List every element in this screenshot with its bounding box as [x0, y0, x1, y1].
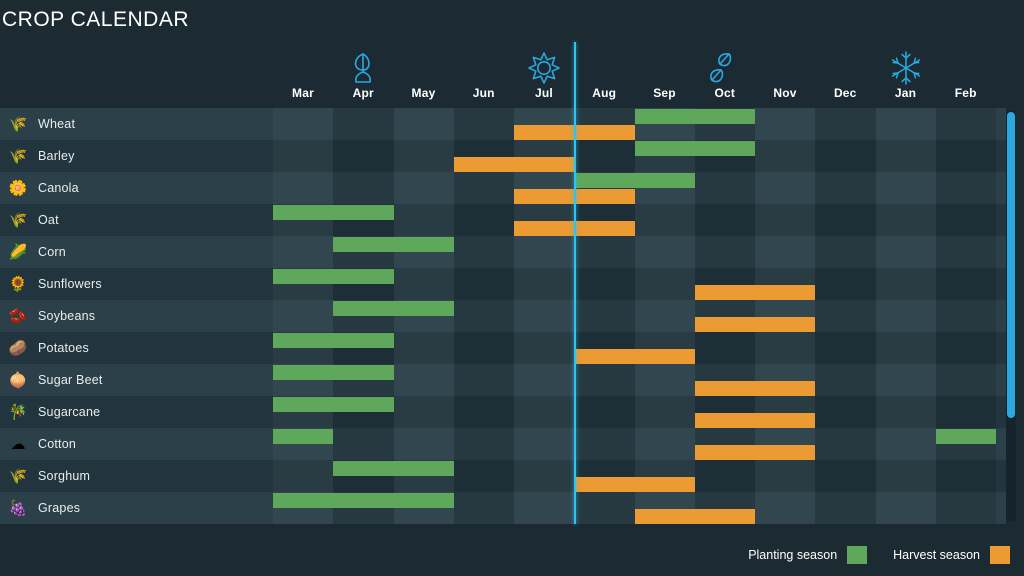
crop-calendar-screen: CROP CALENDAR MarAprMayJunJulAugSepOctNo…	[0, 0, 1024, 576]
month-column-tint	[454, 300, 514, 332]
crop-row[interactable]: 🌽Corn	[0, 236, 1006, 268]
month-column-tint	[514, 268, 574, 300]
month-column-tint	[574, 364, 634, 396]
legend: Planting season Harvest season	[0, 542, 1024, 568]
month-column-tint	[454, 396, 514, 428]
month-column-tint	[936, 204, 996, 236]
month-column-tint	[454, 492, 514, 524]
month-label-mar: Mar	[273, 86, 333, 104]
month-column-tint	[815, 428, 875, 460]
month-label-jan: Jan	[876, 86, 936, 104]
cotton-icon: ☁	[8, 434, 28, 454]
month-column-tint	[574, 428, 634, 460]
month-column-tint	[574, 396, 634, 428]
month-column-tint	[635, 300, 695, 332]
planting-season-bar	[333, 237, 454, 252]
month-column-tint	[936, 172, 996, 204]
month-column-tint	[394, 140, 454, 172]
crop-cell-sunflowers[interactable]: 🌻Sunflowers	[0, 268, 273, 300]
harvest-season-bar	[695, 445, 816, 460]
month-column-tint	[695, 332, 755, 364]
month-column-tint	[936, 108, 996, 140]
month-column-tint	[394, 108, 454, 140]
sugarcane-icon: 🎋	[8, 402, 28, 422]
month-column-tint	[876, 332, 936, 364]
legend-planting-label: Planting season	[748, 548, 837, 562]
month-column-tint	[273, 300, 333, 332]
current-date-marker	[574, 42, 576, 524]
crop-row[interactable]: 🥔Potatoes	[0, 332, 1006, 364]
month-column-tint	[876, 396, 936, 428]
planting-season-bar	[273, 429, 333, 444]
month-column-tint	[454, 172, 514, 204]
month-column-tint	[635, 268, 695, 300]
crop-row[interactable]: 🌾Sorghum	[0, 460, 1006, 492]
month-column-tint	[815, 140, 875, 172]
month-column-tint	[454, 460, 514, 492]
month-column-tint	[876, 108, 936, 140]
crop-cell-canola[interactable]: 🌼Canola	[0, 172, 273, 204]
planting-season-bar	[273, 269, 394, 284]
month-column-tint	[876, 300, 936, 332]
crop-name-label: Soybeans	[38, 309, 95, 323]
month-column-tint	[755, 236, 815, 268]
month-column-tint	[333, 108, 393, 140]
harvest-season-bar	[635, 509, 756, 524]
month-column-tint	[876, 268, 936, 300]
month-column-tint	[454, 364, 514, 396]
crop-name-label: Barley	[38, 149, 75, 163]
wheat-icon: 🌾	[8, 114, 28, 134]
month-column-tint	[454, 236, 514, 268]
month-column-tint	[514, 332, 574, 364]
month-column-tint	[876, 204, 936, 236]
month-column-tint	[815, 492, 875, 524]
soybean-icon: 🫘	[8, 306, 28, 326]
month-column-tint	[454, 268, 514, 300]
barley-icon: 🌾	[8, 146, 28, 166]
month-column-tint	[273, 140, 333, 172]
month-column-tint	[635, 428, 695, 460]
crop-name-label: Sugarcane	[38, 405, 100, 419]
month-column-tint	[394, 364, 454, 396]
planting-season-bar	[273, 333, 394, 348]
month-column-tint	[815, 364, 875, 396]
month-column-tint	[936, 460, 996, 492]
oat-icon: 🌾	[8, 210, 28, 230]
planting-season-bar	[273, 365, 394, 380]
month-column-tint	[936, 300, 996, 332]
month-column-tint	[514, 300, 574, 332]
month-column-tint	[936, 332, 996, 364]
month-column-tint	[755, 172, 815, 204]
month-label-jun: Jun	[454, 86, 514, 104]
month-column-tint	[936, 364, 996, 396]
crop-name-label: Grapes	[38, 501, 80, 515]
month-column-tint	[514, 460, 574, 492]
month-column-tint	[454, 108, 514, 140]
month-column-tint	[755, 108, 815, 140]
crop-cell-cotton[interactable]: ☁Cotton	[0, 428, 273, 460]
month-column-tint	[755, 460, 815, 492]
crop-cell-barley[interactable]: 🌾Barley	[0, 140, 273, 172]
month-column-tint	[394, 428, 454, 460]
crop-name-label: Wheat	[38, 117, 75, 131]
planting-season-bar	[273, 397, 394, 412]
month-column-tint	[273, 172, 333, 204]
month-column-tint	[394, 396, 454, 428]
harvest-season-bar	[695, 381, 816, 396]
crop-row[interactable]: 🧅Sugar Beet	[0, 364, 1006, 396]
planting-season-bar	[635, 141, 756, 156]
month-column-tint	[454, 332, 514, 364]
spring-sprout-icon	[343, 48, 383, 88]
month-column-tint	[695, 236, 755, 268]
month-column-tint	[936, 396, 996, 428]
vertical-scrollbar-track[interactable]	[1006, 110, 1016, 522]
month-column-tint	[815, 332, 875, 364]
month-column-tint	[815, 268, 875, 300]
month-column-tint	[394, 204, 454, 236]
sorghum-icon: 🌾	[8, 466, 28, 486]
month-column-tint	[514, 396, 574, 428]
month-column-tint	[755, 492, 815, 524]
crop-name-label: Sunflowers	[38, 277, 102, 291]
autumn-falling-leaves-icon	[705, 48, 745, 88]
legend-item-planting: Planting season	[748, 546, 867, 564]
month-column-tint	[635, 204, 695, 236]
crop-row[interactable]: 🎋Sugarcane	[0, 396, 1006, 428]
planting-season-bar	[273, 493, 454, 508]
month-column-tint	[876, 428, 936, 460]
crop-cell-corn[interactable]: 🌽Corn	[0, 236, 273, 268]
month-label-sep: Sep	[635, 86, 695, 104]
month-column-tint	[815, 172, 875, 204]
month-column-tint	[574, 300, 634, 332]
month-column-tint	[876, 140, 936, 172]
month-column-tint	[876, 364, 936, 396]
corn-icon: 🌽	[8, 242, 28, 262]
month-column-tint	[876, 460, 936, 492]
crop-row[interactable]: 🌾Barley	[0, 140, 1006, 172]
canola-icon: 🌼	[8, 178, 28, 198]
calendar-panel: MarAprMayJunJulAugSepOctNovDecJanFeb 🌾Wh…	[0, 42, 1006, 528]
month-column-tint	[815, 236, 875, 268]
harvest-season-bar	[695, 317, 816, 332]
month-column-tint	[273, 460, 333, 492]
planting-season-bar	[635, 109, 756, 124]
month-column-tint	[815, 300, 875, 332]
month-column-tint	[815, 396, 875, 428]
sugar-beet-icon: 🧅	[8, 370, 28, 390]
crop-cell-wheat[interactable]: 🌾Wheat	[0, 108, 273, 140]
page-title: CROP CALENDAR	[0, 8, 189, 32]
month-column-tint	[333, 140, 393, 172]
calendar-header: MarAprMayJunJulAugSepOctNovDecJanFeb	[0, 42, 1006, 108]
month-column-tint	[394, 268, 454, 300]
crop-row[interactable]: 🌾Wheat	[0, 108, 1006, 140]
crop-cell-sorghum[interactable]: 🌾Sorghum	[0, 460, 273, 492]
month-column-tint	[454, 204, 514, 236]
month-column-tint	[815, 108, 875, 140]
legend-item-harvest: Harvest season	[893, 546, 1010, 564]
crop-row[interactable]: 🫘Soybeans	[0, 300, 1006, 332]
month-column-tint	[635, 396, 695, 428]
month-label-nov: Nov	[755, 86, 815, 104]
month-column-tint	[755, 332, 815, 364]
month-label-feb: Feb	[936, 86, 996, 104]
harvest-season-bar	[695, 285, 816, 300]
month-column-tint	[394, 332, 454, 364]
crop-row[interactable]: 🌼Canola	[0, 172, 1006, 204]
potato-icon: 🥔	[8, 338, 28, 358]
month-label-may: May	[394, 86, 454, 104]
month-label-apr: Apr	[333, 86, 393, 104]
crop-name-label: Sugar Beet	[38, 373, 103, 387]
month-column-tint	[333, 428, 393, 460]
month-column-tint	[755, 204, 815, 236]
planting-season-bar	[333, 461, 454, 476]
legend-harvest-swatch	[990, 546, 1010, 564]
month-column-tint	[876, 236, 936, 268]
month-label-jul: Jul	[514, 86, 574, 104]
month-column-tint	[273, 236, 333, 268]
month-column-tint	[574, 268, 634, 300]
planting-season-bar	[273, 205, 394, 220]
month-column-tint	[514, 236, 574, 268]
crop-row[interactable]: ☁Cotton	[0, 428, 1006, 460]
month-column-tint	[936, 140, 996, 172]
month-column-tint	[635, 364, 695, 396]
month-column-tint	[514, 428, 574, 460]
vertical-scrollbar-thumb[interactable]	[1007, 112, 1015, 418]
crop-cell-soybeans[interactable]: 🫘Soybeans	[0, 300, 273, 332]
month-column-tint	[574, 236, 634, 268]
month-column-tint	[273, 108, 333, 140]
month-column-tint	[936, 492, 996, 524]
crop-cell-oat[interactable]: 🌾Oat	[0, 204, 273, 236]
legend-planting-swatch	[847, 546, 867, 564]
crop-name-label: Canola	[38, 181, 79, 195]
month-column-tint	[695, 204, 755, 236]
crop-row[interactable]: 🌾Oat	[0, 204, 1006, 236]
sunflower-icon: 🌻	[8, 274, 28, 294]
month-column-tint	[695, 460, 755, 492]
month-column-tint	[815, 460, 875, 492]
planting-season-bar	[936, 429, 996, 444]
month-column-tint	[514, 492, 574, 524]
month-column-tint	[755, 140, 815, 172]
crop-cell-grapes[interactable]: 🍇Grapes	[0, 492, 273, 524]
month-label-oct: Oct	[695, 86, 755, 104]
month-column-tint	[574, 492, 634, 524]
crop-name-label: Cotton	[38, 437, 76, 451]
crop-grid[interactable]: 🌾Wheat🌾Barley🌼Canola🌾Oat🌽Corn🌻Sunflowers…	[0, 108, 1006, 528]
month-column-tint	[876, 172, 936, 204]
harvest-season-bar	[695, 413, 816, 428]
crop-row[interactable]: 🌻Sunflowers	[0, 268, 1006, 300]
month-label-dec: Dec	[815, 86, 875, 104]
crop-cell-potatoes[interactable]: 🥔Potatoes	[0, 332, 273, 364]
crop-name-label: Corn	[38, 245, 66, 259]
month-column-tint	[514, 364, 574, 396]
planting-season-bar	[333, 301, 454, 316]
legend-harvest-label: Harvest season	[893, 548, 980, 562]
grapes-icon: 🍇	[8, 498, 28, 518]
month-column-tint	[876, 492, 936, 524]
crop-name-label: Oat	[38, 213, 59, 227]
month-column-tint	[936, 236, 996, 268]
crop-cell-sugarcane[interactable]: 🎋Sugarcane	[0, 396, 273, 428]
crop-name-label: Sorghum	[38, 469, 90, 483]
harvest-season-bar	[574, 349, 695, 364]
crop-cell-sugar-beet[interactable]: 🧅Sugar Beet	[0, 364, 273, 396]
summer-sun-icon	[524, 48, 564, 88]
month-column-tint	[815, 204, 875, 236]
crop-name-label: Potatoes	[38, 341, 89, 355]
harvest-season-bar	[454, 157, 575, 172]
month-column-tint	[574, 140, 634, 172]
month-column-tint	[333, 172, 393, 204]
month-column-tint	[936, 268, 996, 300]
month-column-tint	[695, 172, 755, 204]
month-label-aug: Aug	[574, 86, 634, 104]
month-column-tint	[454, 428, 514, 460]
month-column-tint	[635, 236, 695, 268]
harvest-season-bar	[574, 477, 695, 492]
crop-row[interactable]: 🍇Grapes	[0, 492, 1006, 524]
month-column-tint	[394, 172, 454, 204]
planting-season-bar	[574, 173, 695, 188]
winter-snowflake-icon	[886, 48, 926, 88]
